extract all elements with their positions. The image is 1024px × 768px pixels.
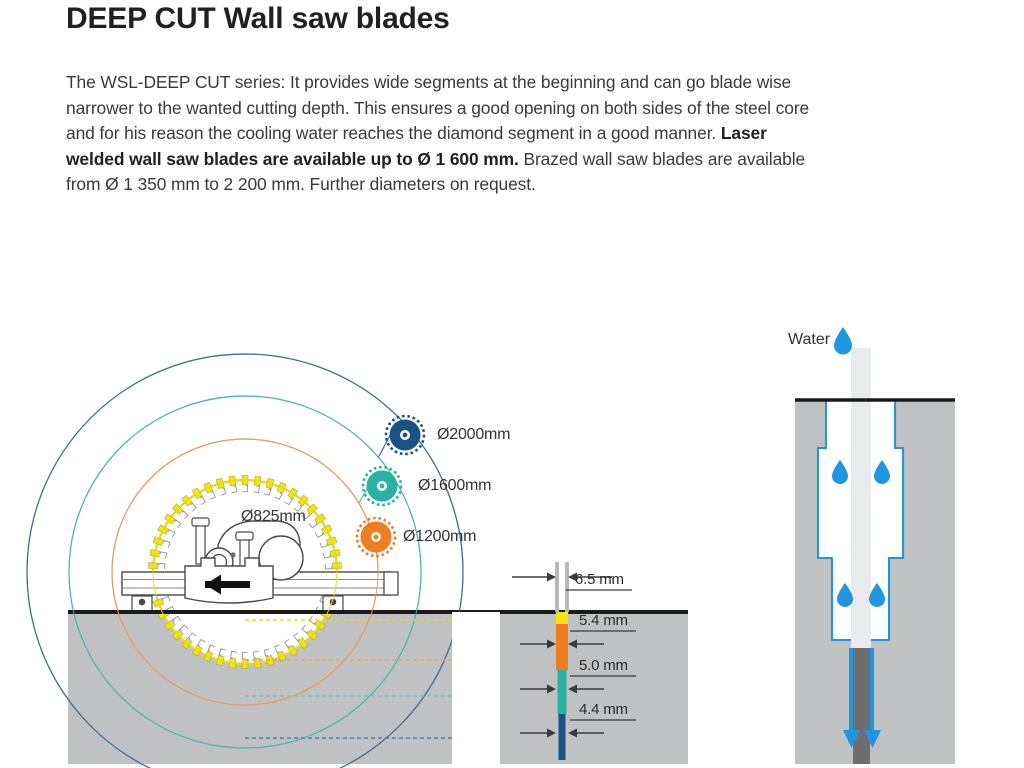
technical-figure: Ø825mm Ø2000mm Ø1600mm Ø1200mm 6.5 mm 5.… — [0, 300, 1024, 768]
kerf-segment-yellow — [556, 612, 568, 624]
figure-canvas — [0, 300, 1024, 768]
water-label: Water — [788, 331, 830, 349]
dimension-label-blue: 4.4 mm — [579, 701, 628, 718]
dimension-label-top: 6.5 mm — [575, 571, 624, 588]
water-cooling-diagram — [795, 327, 955, 764]
blade-tip — [853, 648, 870, 764]
legend-2000-bore — [403, 433, 408, 438]
kerf-segment-orange — [556, 624, 568, 670]
kerf-segment-blue — [559, 714, 566, 760]
shank-edge-right — [565, 562, 569, 612]
panel-gutter — [452, 612, 500, 764]
legend-label-2000: Ø2000mm — [437, 426, 510, 444]
kerf-segment-teal — [558, 670, 567, 714]
profile-concrete — [500, 612, 688, 764]
guide-post-right-cap — [236, 532, 253, 540]
blade-body-vertical — [851, 348, 871, 650]
dimension-label-teal: 5.0 mm — [579, 657, 628, 674]
guide-post-left-cap — [192, 518, 209, 526]
hub-bolt-b — [230, 552, 235, 557]
shank-edge-left — [555, 562, 559, 612]
page-root: DEEP CUT Wall saw blades The WSL-DEEP CU… — [0, 0, 1024, 768]
tip-water-left — [849, 648, 853, 732]
water-label-droplet-icon — [834, 327, 852, 355]
intro-paragraph: The WSL-DEEP CUT series: It provides wid… — [66, 70, 814, 198]
rail-end-cap — [384, 572, 398, 595]
dimension-label-orange: 5.4 mm — [579, 612, 628, 629]
legend-1600-bore — [380, 484, 385, 489]
blade-825-diameter-label: Ø825mm — [241, 508, 306, 526]
page-title: DEEP CUT Wall saw blades — [66, 2, 450, 36]
tip-water-right — [870, 648, 874, 732]
dim-top-arrow-left — [547, 573, 556, 582]
legend-label-1600: Ø1600mm — [418, 477, 491, 495]
legend-1200-bore — [374, 535, 379, 540]
legend-label-1200: Ø1200mm — [403, 528, 476, 546]
rail-foot-left-bolt — [139, 599, 146, 606]
